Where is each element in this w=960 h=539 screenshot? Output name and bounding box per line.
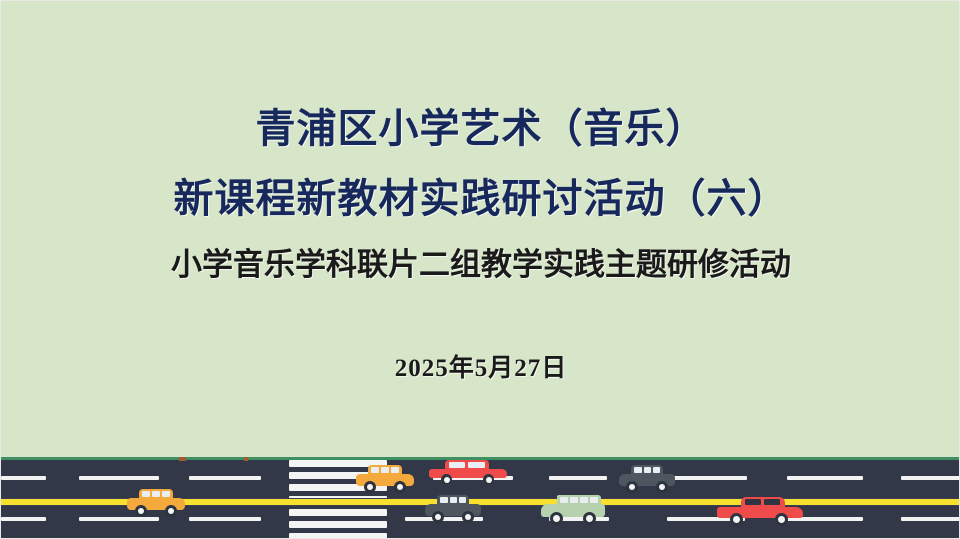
lane-marking	[669, 476, 747, 480]
lane-marking	[901, 517, 960, 521]
orange-suv-lower-left-icon	[127, 489, 185, 516]
slide-date: 2025年5月27日	[1, 356, 960, 381]
green-van-lower-icon	[541, 495, 605, 524]
red-sedan-upper-left-icon	[429, 459, 507, 481]
dark-suv-upper-right-icon	[619, 465, 675, 492]
roadside-post-icon	[179, 457, 186, 461]
orange-suv-upper-icon	[356, 465, 414, 492]
zebra-stripe	[289, 533, 387, 538]
lane-marking	[79, 517, 159, 521]
slide-title-line-1: 青浦区小学艺术（音乐）	[1, 109, 960, 149]
roadside-post-icon	[244, 457, 248, 461]
lane-marking	[79, 476, 159, 480]
lane-marking	[189, 517, 261, 521]
lane-marking	[189, 476, 261, 480]
slide-title-line-2: 新课程新教材实践研讨活动（六）	[1, 179, 960, 219]
zebra-stripe	[289, 509, 387, 516]
slide-subtitle: 小学音乐学科联片二组教学实践主题研修活动	[1, 249, 960, 280]
presentation-slide: 青浦区小学艺术（音乐） 新课程新教材实践研讨活动（六） 小学音乐学科联片二组教学…	[0, 0, 960, 539]
zebra-stripe	[289, 521, 387, 528]
dark-suv-lower-middle-icon	[425, 495, 481, 522]
lane-marking	[549, 476, 607, 480]
lane-marking	[1, 476, 46, 480]
lane-marking	[1, 517, 46, 521]
red-sedan-lower-right-icon	[717, 496, 803, 524]
lane-marking	[901, 476, 960, 480]
lane-marking	[787, 476, 863, 480]
road-illustration	[1, 457, 960, 538]
